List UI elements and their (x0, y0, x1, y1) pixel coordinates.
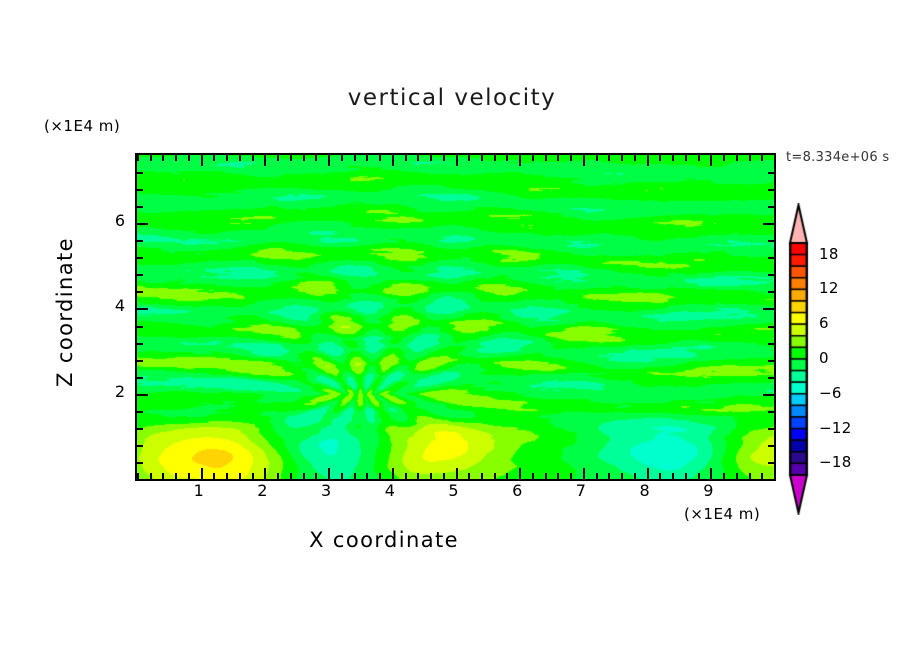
colorbar-tick-label: −18 (819, 453, 852, 471)
x-tick-label: 7 (569, 481, 593, 500)
colorbar: 181260−6−12−18 (781, 203, 815, 515)
vertical-velocity-field (137, 155, 774, 479)
z-tick-label: 4 (99, 296, 125, 315)
x-tick-label: 1 (187, 481, 211, 500)
z-axis-title: Z coordinate (53, 217, 77, 407)
time-annotation: t=8.334e+06 s (786, 150, 889, 165)
colorbar-tick-label: 18 (819, 245, 839, 263)
x-tick-label: 8 (633, 481, 657, 500)
colorbar-tick-label: 0 (819, 349, 829, 367)
chart-title: vertical velocity (0, 85, 904, 111)
colorbar-tick-label: −6 (819, 384, 842, 402)
contour-plot-area (135, 153, 776, 481)
colorbar-gradient (781, 203, 815, 515)
x-tick-label: 2 (250, 481, 274, 500)
x-axis-title: X coordinate (0, 528, 768, 552)
z-tick-label: 2 (99, 382, 125, 401)
x-tick-label: 3 (314, 481, 338, 500)
x-tick-label: 9 (696, 481, 720, 500)
colorbar-tick-label: 6 (819, 314, 829, 332)
x-tick-label: 4 (378, 481, 402, 500)
x-tick-label: 5 (442, 481, 466, 500)
y-axis-unit-label: (×1E4 m) (44, 117, 120, 135)
z-tick-label: 6 (99, 211, 125, 230)
x-axis-unit-label: (×1E4 m) (684, 505, 760, 523)
colorbar-tick-label: 12 (819, 279, 839, 297)
x-tick-label: 6 (505, 481, 529, 500)
colorbar-tick-label: −12 (819, 419, 852, 437)
